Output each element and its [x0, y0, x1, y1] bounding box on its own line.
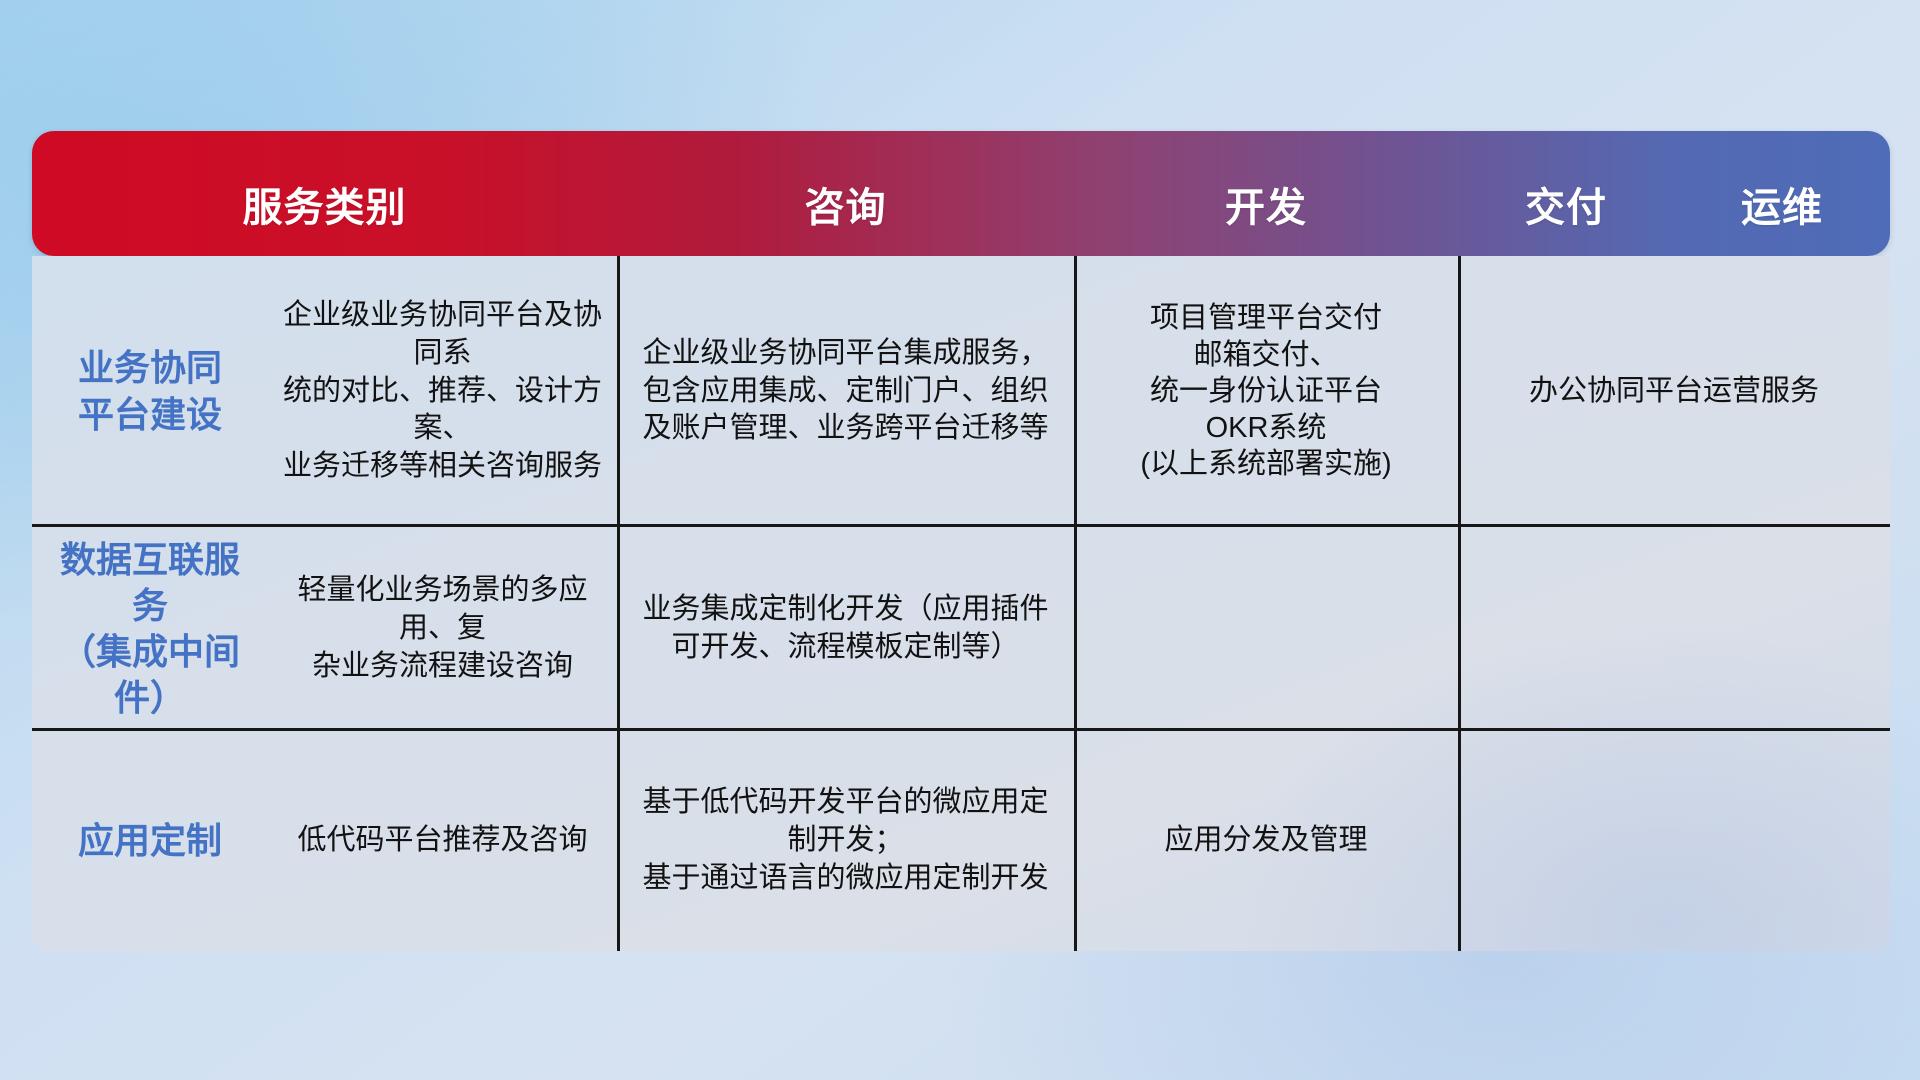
table-row: 业务协同 平台建设 企业级业务协同平台及协同系 统的对比、推荐、设计方案、 业务… — [32, 256, 1890, 527]
row1-development-cell: 企业级业务协同平台集成服务， 包含应用集成、定制门户、组织 及账户管理、业务跨平… — [617, 256, 1074, 527]
row2-category-cell: 数据互联服务 （集成中间件） — [32, 527, 268, 731]
row2-operations-cell — [1458, 527, 1890, 731]
row1-development-text: 企业级业务协同平台集成服务， 包含应用集成、定制门户、组织 及账户管理、业务跨平… — [642, 335, 1048, 448]
row1-category-cell: 业务协同 平台建设 — [32, 256, 268, 527]
header-cell-delivery: 交付 — [1458, 188, 1674, 256]
row3-delivery-text: 应用分发及管理 — [1164, 822, 1367, 860]
row1-category-label: 业务协同 平台建设 — [78, 345, 222, 437]
row1-operations-cell: 办公协同平台运营服务 — [1458, 256, 1890, 527]
row2-consulting-text: 轻量化业务场景的多应用、复 杂业务流程建设咨询 — [282, 572, 603, 685]
header-cell-operations: 运维 — [1674, 188, 1890, 256]
table-body: 业务协同 平台建设 企业级业务协同平台及协同系 统的对比、推荐、设计方案、 业务… — [32, 256, 1890, 951]
row3-category-cell: 应用定制 — [32, 731, 268, 951]
header-cell-development: 开发 — [1074, 188, 1458, 256]
row3-delivery-cell: 应用分发及管理 — [1074, 731, 1458, 951]
row2-delivery-cell — [1074, 527, 1458, 731]
service-matrix-table: 服务类别 咨询 开发 交付 运维 业务协同 平台建设 企业级业务协同平台及协同系… — [32, 131, 1890, 951]
header-cell-service-category: 服务类别 — [32, 188, 617, 256]
row1-delivery-cell: 项目管理平台交付 邮箱交付、 统一身份认证平台 OKR系统 (以上系统部署实施) — [1074, 256, 1458, 527]
row2-development-cell: 业务集成定制化开发（应用插件 可开发、流程模板定制等） — [617, 527, 1074, 731]
row1-operations-text: 办公协同平台运营服务 — [1529, 373, 1819, 411]
row2-category-label: 数据互联服务 （集成中间件） — [46, 537, 254, 721]
row3-consulting-text: 低代码平台推荐及咨询 — [297, 822, 587, 860]
row3-development-text: 基于低代码开发平台的微应用定 制开发； 基于通过语言的微应用定制开发 — [642, 784, 1048, 897]
row2-development-text: 业务集成定制化开发（应用插件 可开发、流程模板定制等） — [642, 591, 1048, 666]
table-row: 应用定制 低代码平台推荐及咨询 基于低代码开发平台的微应用定 制开发； 基于通过… — [32, 731, 1890, 951]
row3-development-cell: 基于低代码开发平台的微应用定 制开发； 基于通过语言的微应用定制开发 — [617, 731, 1074, 951]
table-row: 数据互联服务 （集成中间件） 轻量化业务场景的多应用、复 杂业务流程建设咨询 业… — [32, 527, 1890, 731]
row1-consulting-text: 企业级业务协同平台及协同系 统的对比、推荐、设计方案、 业务迁移等相关咨询服务 — [282, 297, 603, 485]
slide-canvas: 服务类别 咨询 开发 交付 运维 业务协同 平台建设 企业级业务协同平台及协同系… — [0, 0, 1920, 1080]
row1-consulting-cell: 企业级业务协同平台及协同系 统的对比、推荐、设计方案、 业务迁移等相关咨询服务 — [268, 256, 617, 527]
row1-delivery-text: 项目管理平台交付 邮箱交付、 统一身份认证平台 OKR系统 (以上系统部署实施) — [1140, 300, 1391, 483]
row3-category-label: 应用定制 — [78, 818, 222, 864]
row3-consulting-cell: 低代码平台推荐及咨询 — [268, 731, 617, 951]
row2-consulting-cell: 轻量化业务场景的多应用、复 杂业务流程建设咨询 — [268, 527, 617, 731]
table-header-row: 服务类别 咨询 开发 交付 运维 — [32, 131, 1890, 256]
row3-operations-cell — [1458, 731, 1890, 951]
header-cell-consulting: 咨询 — [617, 188, 1074, 256]
